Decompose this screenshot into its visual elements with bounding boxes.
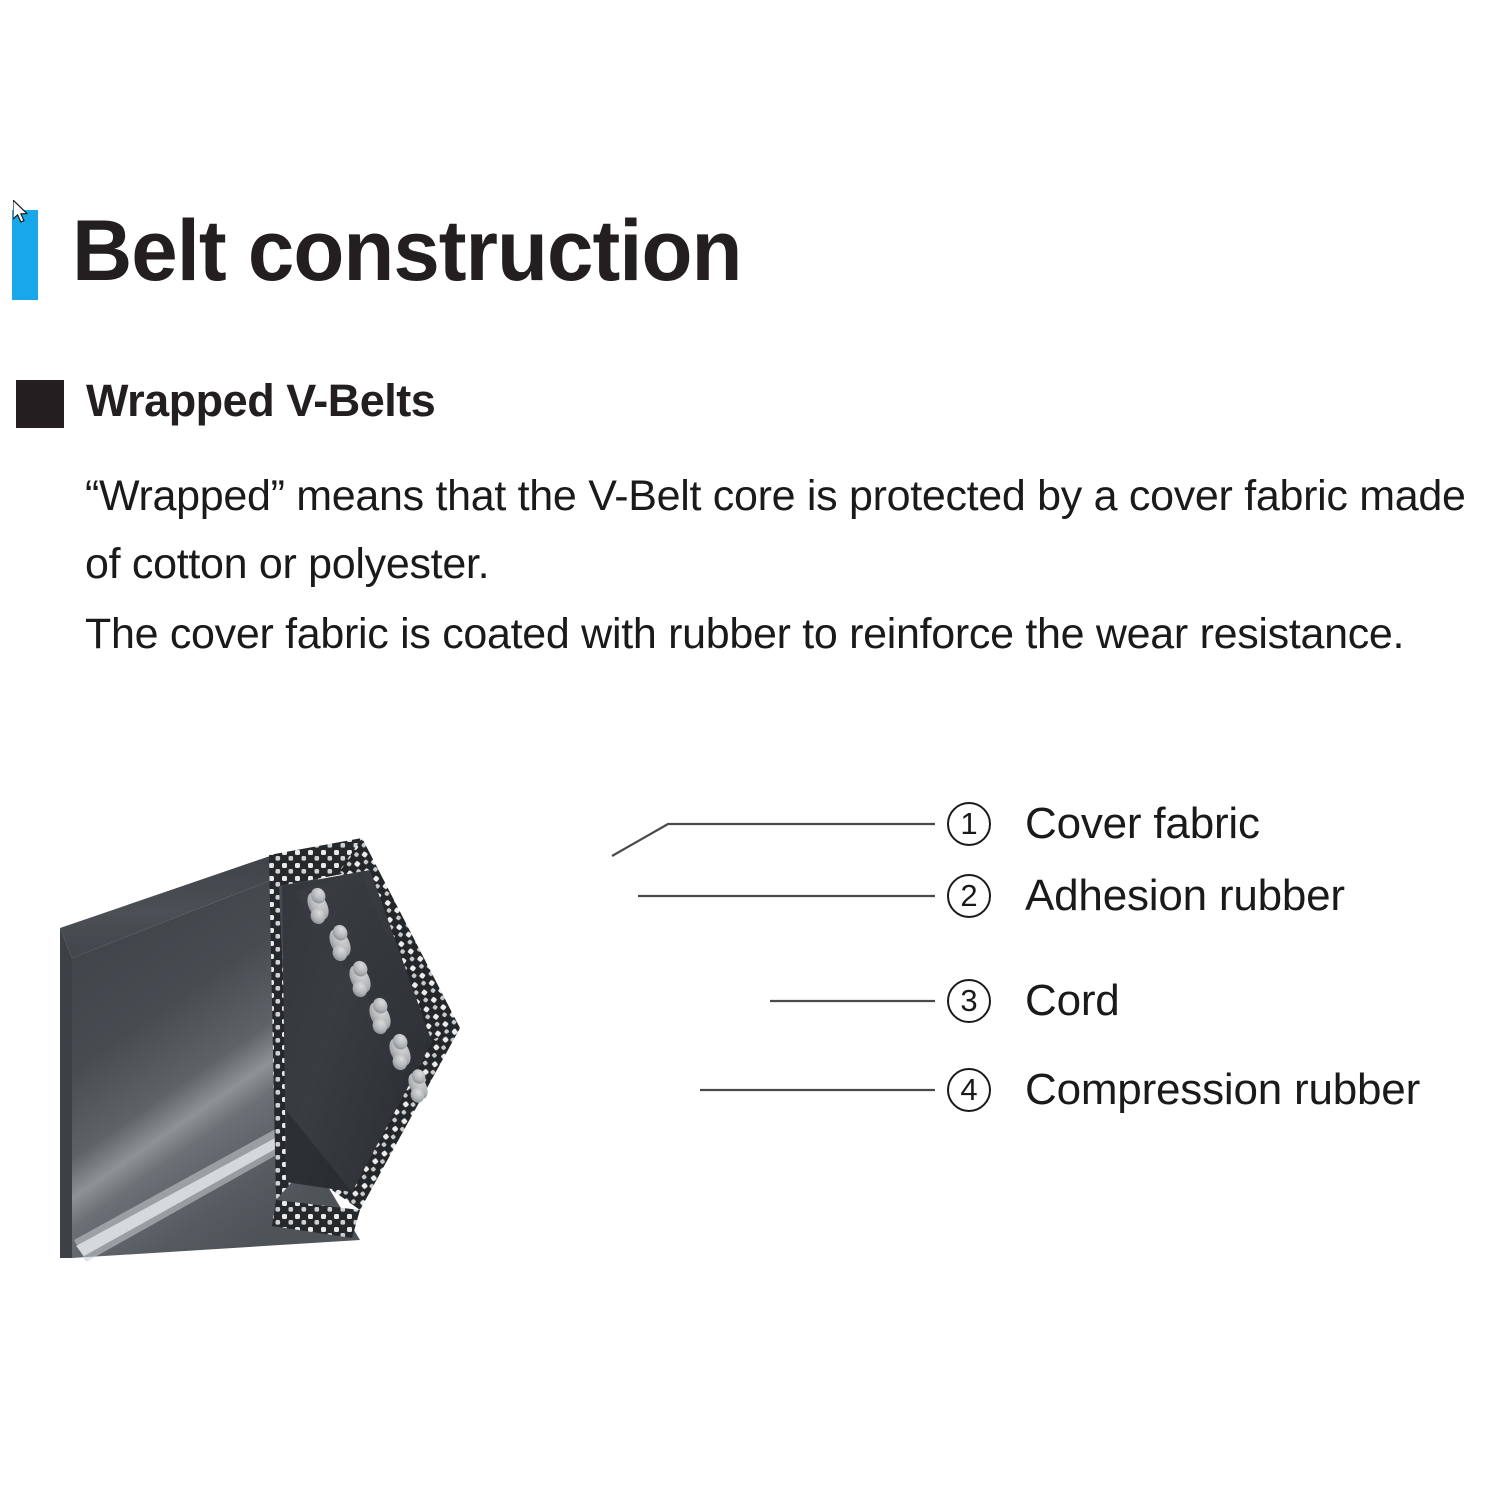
section-heading: Wrapped V-Belts bbox=[86, 374, 435, 428]
title-accent-bar bbox=[12, 210, 38, 300]
page-title: Belt construction bbox=[72, 196, 741, 306]
belt-figure: 1 Cover fabric 2 Adhesion rubber 3 Cord … bbox=[0, 770, 1500, 1310]
section-heading-row: Wrapped V-Belts bbox=[0, 374, 1500, 434]
page-title-row: Belt construction bbox=[0, 196, 1500, 316]
legend-label-1: Cover fabric bbox=[1025, 800, 1260, 848]
legend-number-1: 1 bbox=[947, 802, 991, 846]
legend-number-3: 3 bbox=[947, 979, 991, 1023]
legend-number-2: 2 bbox=[947, 874, 991, 918]
paragraph-1: “Wrapped” means that the V-Belt core is … bbox=[85, 462, 1475, 598]
legend-label-4: Compression rubber bbox=[1025, 1066, 1420, 1114]
legend-number-4: 4 bbox=[947, 1068, 991, 1112]
paragraph-2: The cover fabric is coated with rubber t… bbox=[85, 600, 1475, 668]
square-bullet-icon bbox=[16, 380, 64, 428]
figure-legend: 1 Cover fabric 2 Adhesion rubber 3 Cord … bbox=[0, 770, 1500, 1310]
slide-canvas: Belt construction Wrapped V-Belts “Wrapp… bbox=[0, 0, 1500, 1500]
body-text-block: “Wrapped” means that the V-Belt core is … bbox=[85, 462, 1475, 668]
legend-label-2: Adhesion rubber bbox=[1025, 872, 1345, 920]
legend-label-3: Cord bbox=[1025, 977, 1120, 1025]
